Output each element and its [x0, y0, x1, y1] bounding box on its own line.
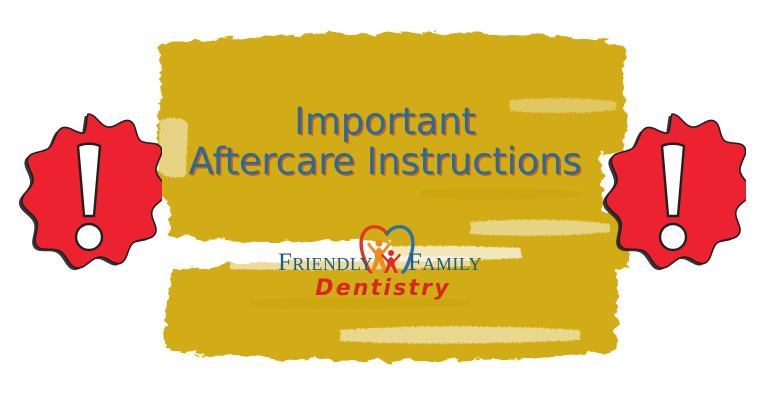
exclamation-alert-badge-left — [14, 110, 162, 286]
page-title: Important Aftercare Instructions — [170, 102, 600, 182]
logo-word-friendly: Friendly — [278, 246, 373, 280]
logo-word-family: Family — [408, 246, 482, 280]
logo-word-dentistry: Dentistry — [268, 276, 498, 301]
practice-logo: Friendly Family Dentistry — [268, 224, 498, 306]
exclamation-alert-badge-right — [598, 110, 746, 286]
aftercare-banner: Important Aftercare Instructions Friendl… — [0, 0, 768, 403]
logo-wordmark: Friendly Family — [268, 246, 498, 280]
